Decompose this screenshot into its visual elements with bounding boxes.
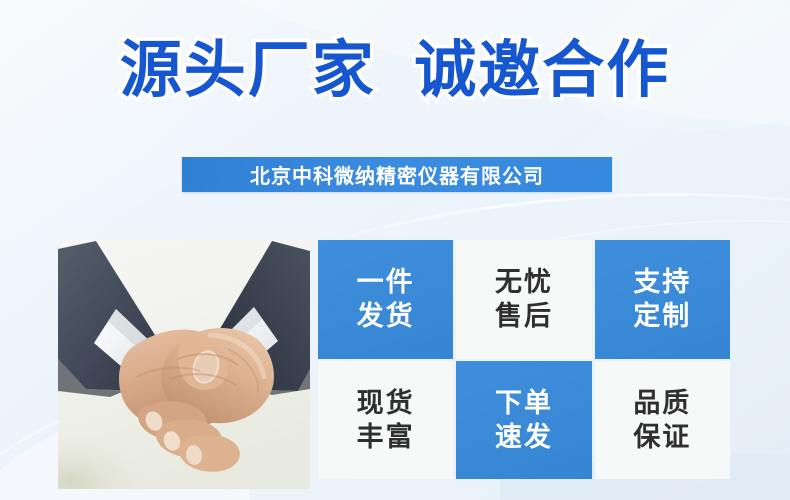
page-title: 源头厂家 诚邀合作	[120, 38, 670, 103]
feature-tile-5-line1: 下单	[495, 386, 553, 420]
company-name-bar: 北京中科微纳精密仪器有限公司	[182, 157, 612, 192]
headline-container: 源头厂家 诚邀合作	[0, 38, 790, 103]
feature-tile-6-line1: 品质	[633, 386, 691, 420]
feature-tile-1: 一件 发货	[318, 240, 453, 359]
feature-tile-1-line2: 发货	[357, 299, 415, 333]
feature-tile-3-line1: 支持	[633, 265, 691, 299]
feature-tile-4: 现货 丰富	[318, 361, 453, 480]
feature-tile-6: 品质 保证	[595, 361, 730, 480]
feature-tile-2-line2: 售后	[495, 299, 553, 333]
feature-tile-4-line2: 丰富	[357, 420, 415, 454]
feature-tile-1-line1: 一件	[357, 265, 415, 299]
feature-tile-3-line2: 定制	[633, 299, 691, 333]
feature-grid: 一件 发货 无忧 售后 支持 定制 现货 丰富 下单 速发 品质 保证	[318, 240, 730, 479]
company-name-label: 北京中科微纳精密仪器有限公司	[250, 160, 544, 189]
promo-banner: 源头厂家 诚邀合作 北京中科微纳精密仪器有限公司	[0, 0, 790, 500]
feature-tile-4-line1: 现货	[357, 386, 415, 420]
feature-tile-5-line2: 速发	[495, 420, 553, 454]
feature-tile-6-line2: 保证	[633, 420, 691, 454]
feature-tile-2-line1: 无忧	[495, 265, 553, 299]
feature-tile-5: 下单 速发	[456, 361, 591, 480]
feature-tile-3: 支持 定制	[595, 240, 730, 359]
feature-tile-2: 无忧 售后	[456, 240, 591, 359]
handshake-photo	[58, 239, 310, 489]
